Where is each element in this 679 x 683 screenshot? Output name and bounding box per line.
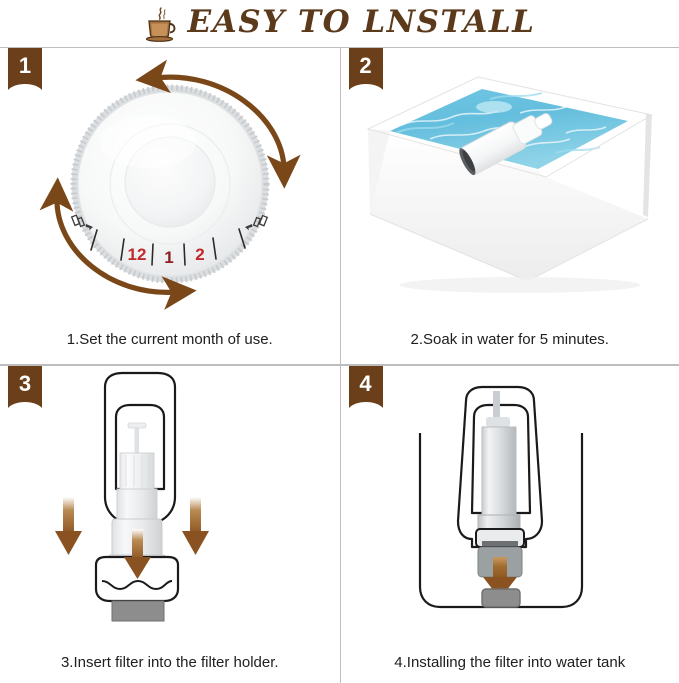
step-caption-3: 3.Insert filter into the filter holder. [0,654,340,671]
header: EASY TO LNSTALL [0,0,679,47]
filter-collar [476,529,524,547]
step-badge-2: 2 [349,48,383,93]
step-panel-2: 2 [340,47,679,365]
water-basin-illustration [341,48,679,320]
steps-grid: 1 [0,47,679,683]
step-caption-2: 2.Soak in water for 5 minutes. [341,331,679,348]
dial-illustration: 12 1 2 [0,48,340,320]
down-arrow-right [182,497,209,555]
step-caption-4: 4.Installing the filter into water tank [341,654,679,671]
step-number-2: 2 [349,48,383,84]
coffee-cup-icon [144,6,178,42]
step-caption-1: 1.Set the current month of use. [0,331,340,348]
dial-label-12: 12 [127,245,146,264]
dial-label-1: 1 [164,248,173,267]
install-into-tank-illustration [341,366,679,626]
step-number-4: 4 [349,366,383,402]
tank-socket [482,589,520,607]
step-panel-1: 1 [0,47,340,365]
dial-label-2: 2 [195,245,204,264]
insert-filter-illustration [0,366,340,626]
page-title: EASY TO LNSTALL [188,7,536,38]
step-badge-3: 3 [8,366,42,411]
step-number-1: 1 [8,48,42,84]
step-badge-1: 1 [8,48,42,93]
step-panel-4: 4 [340,365,679,683]
down-arrow-left [55,497,82,555]
step-number-3: 3 [8,366,42,402]
step-badge-4: 4 [349,366,383,411]
instruction-infographic: EASY TO LNSTALL 1 [0,0,679,683]
step-panel-3: 3 [0,365,340,683]
holder-base [112,601,164,621]
